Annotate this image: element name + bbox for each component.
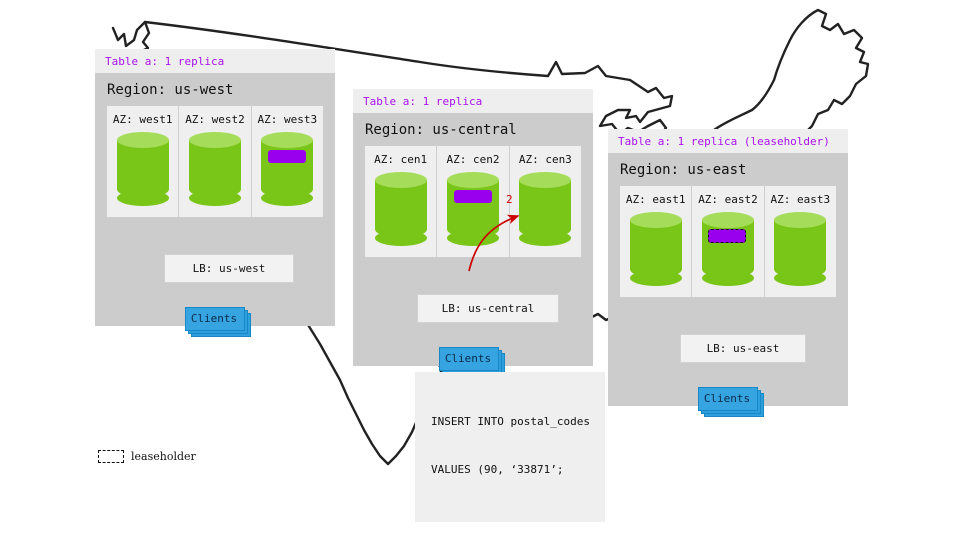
panel-header-us-east: Table a: 1 replica (leaseholder) <box>608 129 848 153</box>
cylinder-top <box>519 172 571 188</box>
cylinder-top <box>702 212 754 228</box>
clients-stack-us-east[interactable]: Clients <box>698 387 756 409</box>
node-cylinder-cen1[interactable] <box>375 172 427 246</box>
node-cylinder-west2[interactable] <box>189 132 241 206</box>
legend-label: leaseholder <box>131 450 196 463</box>
region-title-us-west: Region: us-west <box>95 73 335 106</box>
cylinder-body <box>519 180 571 238</box>
sql-line-2: VALUES (90, ‘33871’; <box>431 462 591 478</box>
replica-marker-west3 <box>268 150 306 163</box>
az-cell-west1[interactable]: AZ: west1 <box>107 106 179 217</box>
node-cylinder-west1[interactable] <box>117 132 169 206</box>
az-row-us-west: AZ: west1 AZ: west2 AZ <box>107 106 323 217</box>
az-cell-west2[interactable]: AZ: west2 <box>179 106 251 217</box>
replica-marker-cen2 <box>454 190 492 203</box>
panel-body-us-west: Region: us-west AZ: west1 AZ: west2 <box>95 73 335 326</box>
cylinder-body <box>447 180 499 238</box>
node-cylinder-east3[interactable] <box>774 212 826 286</box>
region-title-us-east: Region: us-east <box>608 153 848 186</box>
panel-body-us-east: Region: us-east AZ: east1 AZ: east2 <box>608 153 848 406</box>
node-cylinder-cen3[interactable] <box>519 172 571 246</box>
load-balancer-us-central[interactable]: LB: us-central <box>417 294 559 323</box>
az-label-east3: AZ: east3 <box>765 193 836 206</box>
node-cylinder-cen2[interactable] <box>447 172 499 246</box>
sql-line-1: INSERT INTO postal_codes <box>431 414 591 430</box>
clients-label: Clients <box>439 347 497 369</box>
az-label-cen3: AZ: cen3 <box>510 153 581 166</box>
region-panel-us-west: Table a: 1 replica Region: us-west AZ: w… <box>95 49 335 326</box>
cylinder-top <box>189 132 241 148</box>
az-cell-cen1[interactable]: AZ: cen1 <box>365 146 437 257</box>
panel-body-us-central: Region: us-central AZ: cen1 AZ: cen2 <box>353 113 593 366</box>
region-panel-us-east: Table a: 1 replica (leaseholder) Region:… <box>608 129 848 406</box>
cylinder-body <box>774 220 826 278</box>
az-cell-east3[interactable]: AZ: east3 <box>765 186 836 297</box>
az-cell-east2[interactable]: AZ: east2 <box>692 186 764 297</box>
clients-stack-us-central[interactable]: Clients <box>439 347 497 369</box>
cylinder-body <box>261 140 313 198</box>
az-label-west2: AZ: west2 <box>179 113 250 126</box>
az-cell-west3[interactable]: AZ: west3 <box>252 106 323 217</box>
cylinder-body <box>630 220 682 278</box>
cylinder-top <box>117 132 169 148</box>
az-label-east2: AZ: east2 <box>692 193 763 206</box>
replica-marker-east2-leaseholder <box>708 229 746 243</box>
cylinder-body <box>189 140 241 198</box>
node-cylinder-east2[interactable] <box>702 212 754 286</box>
node-cylinder-east1[interactable] <box>630 212 682 286</box>
az-cell-east1[interactable]: AZ: east1 <box>620 186 692 297</box>
region-panel-us-central: Table a: 1 replica Region: us-central AZ… <box>353 89 593 366</box>
az-label-west3: AZ: west3 <box>252 113 323 126</box>
az-label-east1: AZ: east1 <box>620 193 691 206</box>
cylinder-top <box>375 172 427 188</box>
cylinder-top <box>261 132 313 148</box>
legend-leaseholder: leaseholder <box>98 450 196 463</box>
az-label-west1: AZ: west1 <box>107 113 178 126</box>
az-cell-cen3[interactable]: AZ: cen3 <box>510 146 581 257</box>
load-balancer-us-east[interactable]: LB: us-east <box>680 334 806 363</box>
clients-label: Clients <box>698 387 756 409</box>
cylinder-body <box>117 140 169 198</box>
diagram-canvas: Table a: 1 replica Region: us-west AZ: w… <box>0 0 960 540</box>
cylinder-top <box>774 212 826 228</box>
cylinder-top <box>630 212 682 228</box>
az-label-cen1: AZ: cen1 <box>365 153 436 166</box>
leaseholder-swatch-icon <box>98 450 124 463</box>
sql-statement-box: INSERT INTO postal_codes VALUES (90, ‘33… <box>415 372 605 522</box>
load-balancer-us-west[interactable]: LB: us-west <box>164 254 294 283</box>
clients-label: Clients <box>185 307 243 329</box>
az-row-us-central: AZ: cen1 AZ: cen2 <box>365 146 581 257</box>
az-row-us-east: AZ: east1 AZ: east2 <box>620 186 836 297</box>
az-cell-cen2[interactable]: AZ: cen2 <box>437 146 509 257</box>
cylinder-top <box>447 172 499 188</box>
node-cylinder-west3[interactable] <box>261 132 313 206</box>
clients-stack-us-west[interactable]: Clients <box>185 307 243 329</box>
az-label-cen2: AZ: cen2 <box>437 153 508 166</box>
panel-header-us-central: Table a: 1 replica <box>353 89 593 113</box>
panel-header-us-west: Table a: 1 replica <box>95 49 335 73</box>
cylinder-body <box>375 180 427 238</box>
region-title-us-central: Region: us-central <box>353 113 593 146</box>
